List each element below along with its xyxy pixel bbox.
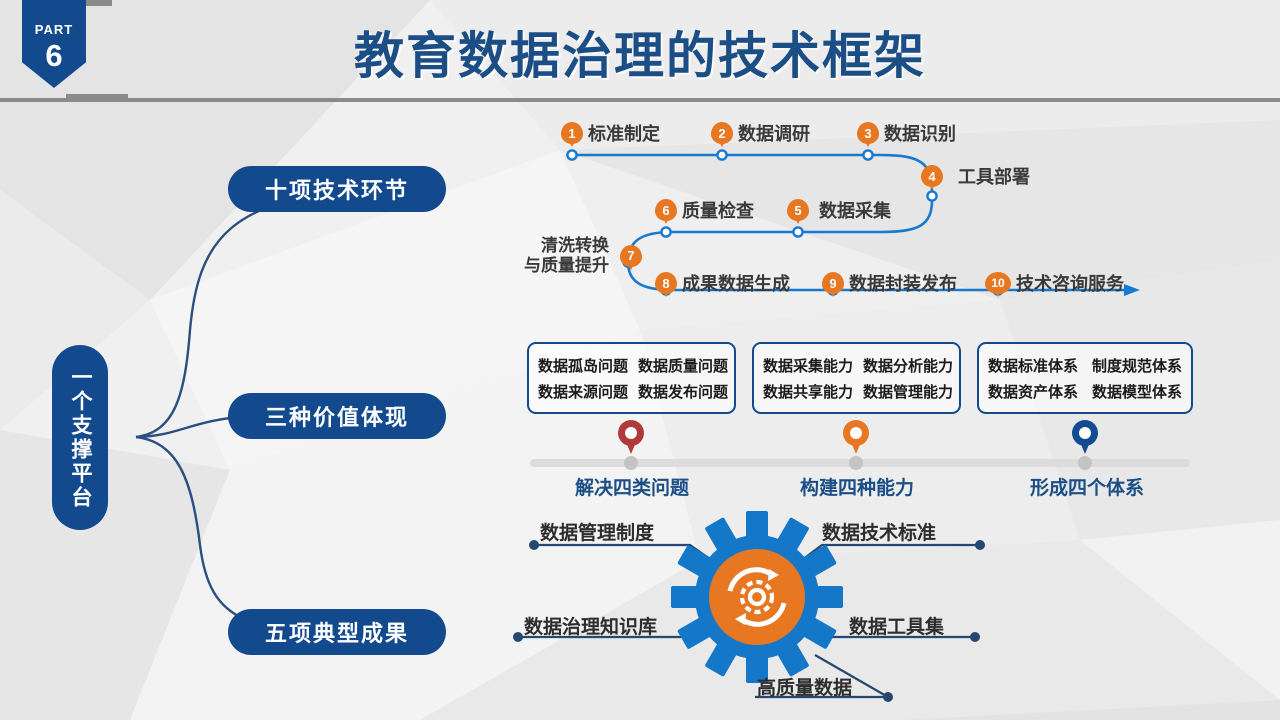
- step-pin-icon: 3: [857, 122, 879, 144]
- card-row: 数据来源问题 数据发布问题: [538, 381, 725, 402]
- card-cell: 数据共享能力: [763, 381, 853, 402]
- card-cell: 数据分析能力: [863, 355, 953, 376]
- step-label: 数据封装发布: [849, 270, 957, 296]
- process-step-10[interactable]: 10 技术咨询服务: [985, 270, 1124, 296]
- support-platform-label: 一个支撑平台: [65, 366, 95, 510]
- branch-label: 五项典型成果: [265, 616, 409, 648]
- card-cell: 数据管理能力: [863, 381, 953, 402]
- process-step-3[interactable]: 3 数据识别: [857, 120, 956, 146]
- step-pin-icon: 5: [787, 199, 809, 221]
- process-step-7[interactable]: 清洗转换 与质量提升 7: [524, 236, 642, 275]
- process-step-1[interactable]: 1 标准制定: [561, 120, 660, 146]
- value-card-systems[interactable]: 数据标准体系 制度规范体系 数据资产体系 数据模型体系: [977, 342, 1193, 414]
- process-step-2[interactable]: 2 数据调研: [711, 120, 810, 146]
- step-label: 数据调研: [738, 120, 810, 146]
- card-cell: 数据标准体系: [988, 355, 1078, 376]
- step-label: 标准制定: [588, 120, 660, 146]
- value-card-problems[interactable]: 数据孤岛问题 数据质量问题 数据来源问题 数据发布问题: [527, 342, 736, 414]
- process-step-5[interactable]: 5 数据采集: [787, 197, 891, 223]
- slide-canvas: PART 6 教育数据治理的技术框架 一个支撑平台 十项技术环节 三种价值体现 …: [0, 0, 1280, 720]
- step-label: 技术咨询服务: [1016, 270, 1124, 296]
- card-cell: 数据采集能力: [763, 355, 853, 376]
- branch-ten-technical-steps[interactable]: 十项技术环节: [228, 166, 446, 212]
- card-row: 数据采集能力 数据分析能力: [763, 355, 950, 376]
- track-dot: [624, 456, 638, 470]
- card-cell: 制度规范体系: [1092, 355, 1182, 376]
- step-pin-icon: 1: [561, 122, 583, 144]
- card-cell: 数据模型体系: [1092, 381, 1182, 402]
- value-caption-capabilities: 构建四种能力: [800, 473, 910, 500]
- value-caption-systems: 形成四个体系: [1030, 473, 1140, 500]
- step-label-line1: 清洗转换: [524, 236, 609, 256]
- step-pin-icon: 6: [655, 199, 677, 221]
- step-pin-icon: 8: [655, 272, 677, 294]
- card-cell: 数据孤岛问题: [538, 355, 628, 376]
- step-pin-icon: 2: [711, 122, 733, 144]
- map-pin-icon-problems: [618, 420, 644, 454]
- step-pin-icon: 9: [822, 272, 844, 294]
- step-pin-icon: 7: [620, 245, 642, 267]
- value-card-capabilities[interactable]: 数据采集能力 数据分析能力 数据共享能力 数据管理能力: [752, 342, 961, 414]
- step-label: 数据识别: [884, 120, 956, 146]
- pin-head: [843, 420, 869, 446]
- pin-head: [1072, 420, 1098, 446]
- step-label: 质量检查: [682, 197, 754, 223]
- step-pin-icon: 10: [985, 272, 1011, 294]
- step-label-line2: 与质量提升: [524, 256, 609, 276]
- process-step-4[interactable]: 4 工具部署: [921, 163, 1030, 189]
- outcome-high-quality-data[interactable]: 高质量数据: [757, 673, 852, 700]
- step-label: 数据采集: [819, 197, 891, 223]
- card-row: 数据标准体系 制度规范体系: [988, 355, 1182, 376]
- page-title: 教育数据治理的技术框架: [0, 16, 1280, 88]
- card-row: 数据共享能力 数据管理能力: [763, 381, 950, 402]
- outcome-data-management-system[interactable]: 数据管理制度: [540, 518, 654, 545]
- map-pin-icon-capabilities: [843, 420, 869, 454]
- outcome-data-toolset[interactable]: 数据工具集: [849, 612, 944, 639]
- outcome-data-technical-standard[interactable]: 数据技术标准: [822, 518, 936, 545]
- part-number: 6: [22, 40, 86, 71]
- branch-three-value-expressions[interactable]: 三种价值体现: [228, 393, 446, 439]
- part-word: PART: [22, 22, 86, 37]
- process-step-8[interactable]: 8 成果数据生成: [655, 270, 790, 296]
- step-pin-icon: 4: [921, 165, 943, 187]
- track-dot: [1078, 456, 1092, 470]
- branch-five-typical-outcomes[interactable]: 五项典型成果: [228, 609, 446, 655]
- process-step-6[interactable]: 6 质量检查: [655, 197, 754, 223]
- step-label: 成果数据生成: [682, 270, 790, 296]
- step-label: 工具部署: [958, 163, 1030, 189]
- process-step-9[interactable]: 9 数据封装发布: [822, 270, 957, 296]
- card-cell: 数据发布问题: [638, 381, 728, 402]
- branch-label: 三种价值体现: [265, 400, 409, 432]
- value-caption-problems: 解决四类问题: [575, 473, 685, 500]
- card-row: 数据资产体系 数据模型体系: [988, 381, 1182, 402]
- card-cell: 数据来源问题: [538, 381, 628, 402]
- pin-head: [618, 420, 644, 446]
- card-row: 数据孤岛问题 数据质量问题: [538, 355, 725, 376]
- support-platform-pill[interactable]: 一个支撑平台: [52, 345, 108, 530]
- map-pin-icon-systems: [1072, 420, 1098, 454]
- branch-label: 十项技术环节: [265, 173, 409, 205]
- step-label: 清洗转换 与质量提升: [524, 236, 609, 275]
- track-dot: [849, 456, 863, 470]
- card-cell: 数据质量问题: [638, 355, 728, 376]
- card-cell: 数据资产体系: [988, 381, 1078, 402]
- outcome-data-governance-knowledge-base[interactable]: 数据治理知识库: [524, 612, 657, 639]
